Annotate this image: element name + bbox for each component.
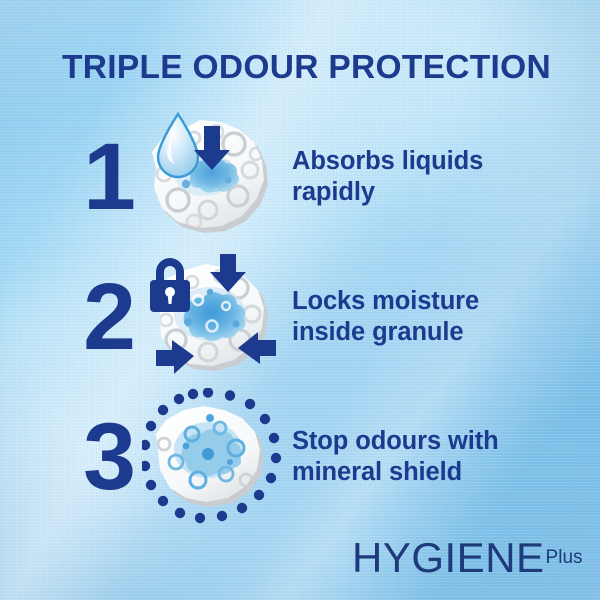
step-illustration-2 [142,248,290,388]
step-row-1: 1 [0,108,600,248]
brand-superscript: Plus [546,547,583,568]
granule-shield-graphic [142,388,290,528]
brand-name: HYGIENE [352,534,545,581]
step-copy-2: Locks moisture inside granule [292,286,572,348]
granule-lock-graphic [142,248,290,388]
step-copy-1-line2: rapidly [292,177,572,208]
step-copy-2-line2: inside granule [292,317,572,348]
step-row-2: 2 [0,248,600,388]
step-number-1: 1 [74,130,144,225]
granule-absorb-graphic [142,108,290,248]
granule-icon [156,406,264,507]
step-illustration-1 [142,108,290,248]
step-copy-1-line1: Absorbs liquids [292,146,572,177]
poster-canvas: TRIPLE ODOUR PROTECTION [0,0,600,600]
step-copy-3: Stop odours with mineral shield [292,426,572,488]
step-copy-1: Absorbs liquids rapidly [292,146,572,208]
step-copy-2-line1: Locks moisture [292,286,572,317]
step-copy-3-line2: mineral shield [292,457,572,488]
step-copy-3-line1: Stop odours with [292,426,572,457]
brand-logo: HYGIENEPlus [352,534,582,582]
page-title: TRIPLE ODOUR PROTECTION [62,50,562,85]
step-row-3: 3 [0,388,600,528]
water-droplet-icon [158,114,198,177]
padlock-icon [150,258,190,312]
step-number-2: 2 [74,270,144,365]
step-illustration-3 [142,388,290,528]
step-number-3: 3 [74,410,144,505]
